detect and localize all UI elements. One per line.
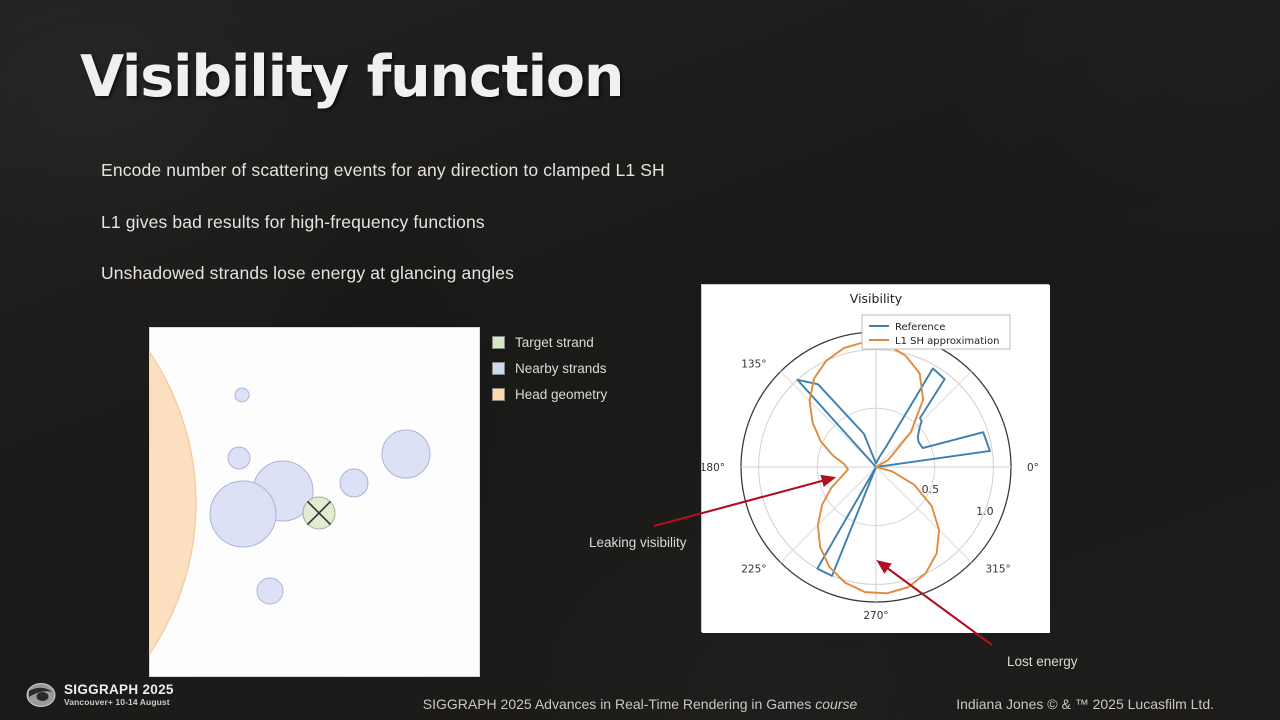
bullet-list: Encode number of scattering events for a… [101,160,721,315]
nearby-strand-circle [257,578,283,604]
nearby-strands-swatch [492,362,505,375]
cross-section-diagram [150,328,480,677]
nearby-strand-circle [210,481,276,547]
leaking-visibility-label: Leaking visibility [589,535,687,550]
chart-legend-label: L1 SH approximation [895,336,999,347]
polar-angular-tick-label: 0° [1027,462,1039,474]
nearby-strand-circle [382,430,430,478]
footer-course-italic: course [815,696,857,712]
polar-radial-tick-label: 1.0 [976,505,994,518]
footer-course-main: SIGGRAPH 2025 Advances in Real-Time Rend… [423,696,815,712]
nearby-strand-circle [228,447,250,469]
bullet-item-3: Unshadowed strands lose energy at glanci… [101,263,721,284]
lost-energy-label: Lost energy [1007,654,1078,669]
polar-angular-tick-label: 315° [985,563,1010,575]
legend-item-target-strand: Target strand [492,334,632,350]
legend-label-nearby-strands: Nearby strands [515,361,607,376]
polar-angular-tick-label: 225° [741,563,766,575]
bullet-item-2: L1 gives bad results for high-frequency … [101,212,721,233]
target-strand-group [303,497,335,529]
legend-item-head-geometry: Head geometry [492,386,632,402]
polar-angular-tick-label: 270° [863,610,888,622]
nearby-strand-circle [340,469,368,497]
head-geometry-swatch [492,388,505,401]
bullet-item-1: Encode number of scattering events for a… [101,160,721,181]
chart-legend: ReferenceL1 SH approximation [862,315,1010,349]
chart-legend-label: Reference [895,322,945,333]
polar-plot-svg: Visibility 0°90°135°180°225°270°315° 0.5… [702,285,1050,633]
legend-label-head-geometry: Head geometry [515,387,607,402]
nearby-strand-circle [235,388,249,402]
legend-item-nearby-strands: Nearby strands [492,360,632,376]
polar-radial-tick-label: 0.5 [922,483,940,496]
visibility-polar-chart: Visibility 0°90°135°180°225°270°315° 0.5… [701,284,1049,632]
polar-angular-tick-label: 135° [741,359,766,371]
chart-title: Visibility [850,291,903,306]
cross-section-figure [149,327,480,677]
target-strand-swatch [492,336,505,349]
legend-label-target-strand: Target strand [515,335,594,350]
cross-section-legend: Target strand Nearby strands Head geomet… [492,334,632,412]
page-title: Visibility function [80,44,623,110]
polar-angular-tick-label: 180° [702,462,725,474]
footer-copyright: Indiana Jones © & ™ 2025 Lucasfilm Ltd. [956,696,1214,712]
